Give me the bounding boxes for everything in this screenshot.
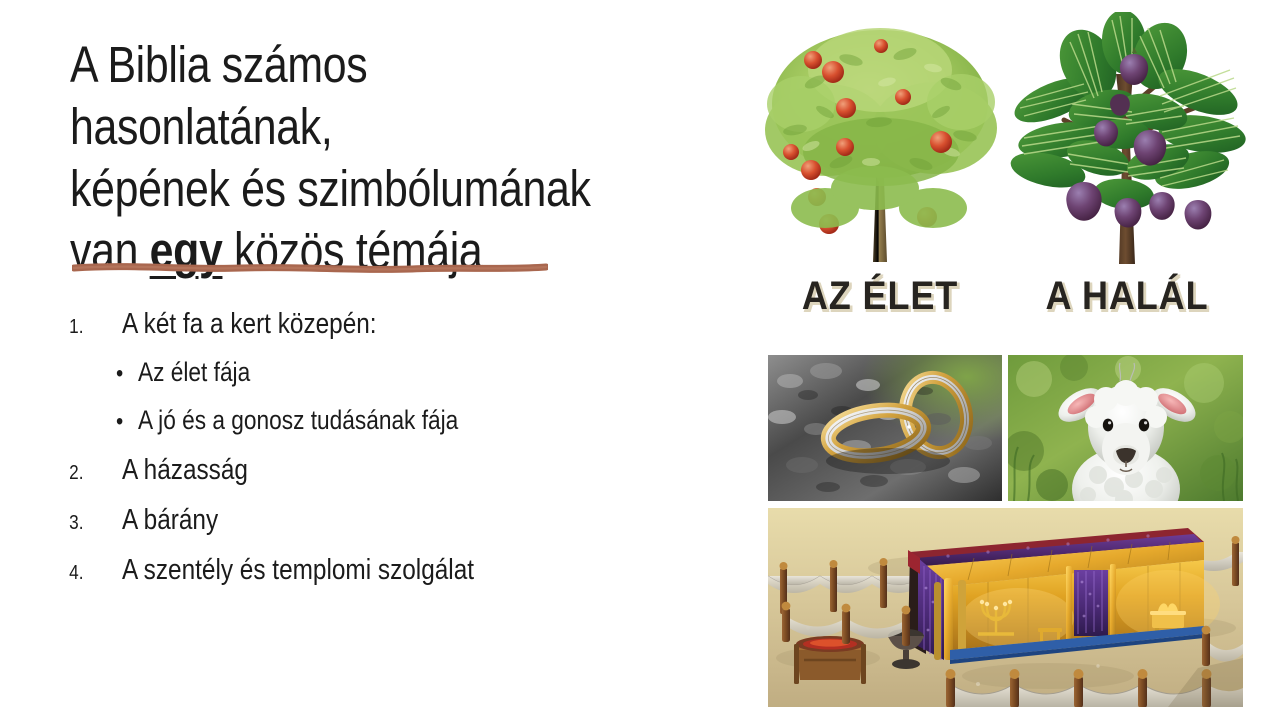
content-list: 1. A két fa a kert közepén: • Az élet fá… — [64, 300, 724, 596]
list-marker: 3. — [64, 512, 114, 535]
list-item: 4. A szentély és templomi szolgálat — [64, 546, 724, 594]
slide-title: A Biblia számos hasonlatának,képének és … — [70, 34, 624, 282]
tree-of-life-label: AZ ÉLET — [768, 274, 993, 319]
apple-tree-icon — [755, 12, 1005, 274]
list-item-label: A házasság — [122, 446, 248, 494]
list-marker: 1. — [64, 316, 114, 339]
lamb-photo — [1008, 355, 1243, 501]
title-line-2: képének és szimbólumának — [70, 160, 591, 217]
slide-left-column: A Biblia számos hasonlatának,képének és … — [0, 0, 740, 720]
title-line-1: A Biblia számos hasonlatának, — [70, 36, 379, 155]
bullet-icon: • — [116, 400, 135, 444]
trees-group: AZ ÉLET — [740, 12, 1280, 342]
list-item: 3. A bárány — [64, 496, 724, 544]
list-item-label: Az élet fája — [138, 350, 250, 395]
tree-of-death-label: A HALÁL — [1015, 274, 1240, 319]
list-item-label: A két fa a kert közepén: — [122, 300, 377, 348]
list-item-label: A bárány — [122, 496, 218, 544]
bullet-icon: • — [116, 352, 135, 396]
list-item: 1. A két fa a kert közepén: — [64, 300, 724, 348]
list-item-label: A szentély és templomi szolgálat — [122, 546, 474, 594]
list-item-label: A jó és a gonosz tudásának fája — [138, 398, 458, 443]
title-divider-brushstroke — [72, 258, 548, 276]
presentation-slide: A Biblia számos hasonlatának,képének és … — [0, 0, 1280, 720]
wedding-rings-photo — [768, 355, 1002, 501]
tree-of-life-block: AZ ÉLET — [755, 12, 1005, 342]
tabernacle-photo — [768, 508, 1243, 707]
list-item: • Az élet fája — [116, 350, 724, 396]
list-marker: 4. — [64, 562, 114, 585]
tree-of-death-block: A HALÁL — [1002, 12, 1252, 342]
slide-right-column: AZ ÉLET — [740, 0, 1280, 720]
list-item: • A jó és a gonosz tudásának fája — [116, 398, 724, 444]
list-marker: 2. — [64, 462, 114, 485]
list-item: 2. A házasság — [64, 446, 724, 494]
fig-tree-icon — [1002, 12, 1252, 274]
